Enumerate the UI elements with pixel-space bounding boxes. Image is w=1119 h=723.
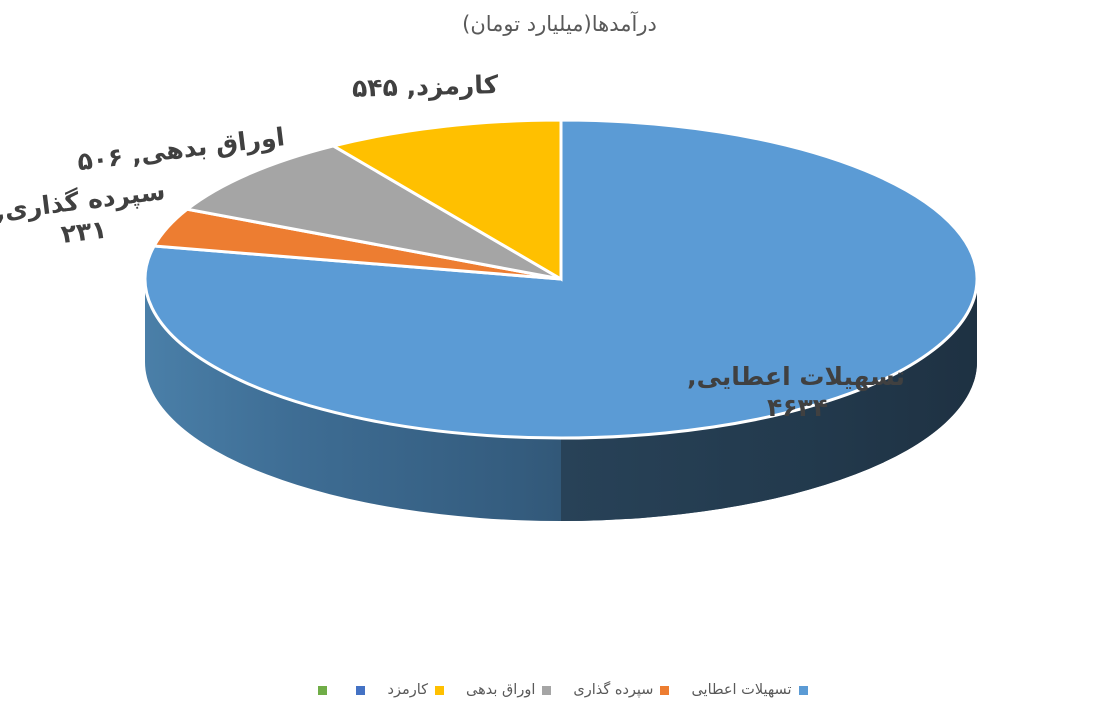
- data-label-karmozd: کارمزد, ۵۴۵: [352, 70, 499, 104]
- pie-chart-figure: درآمدها(میلیارد تومان): [0, 0, 1119, 723]
- legend-item-2[interactable]: اوراق بدهی: [466, 682, 551, 698]
- legend-item-label: کارمزد: [387, 682, 428, 698]
- legend-swatch-icon: [318, 686, 327, 695]
- legend-item-5[interactable]: [311, 686, 327, 695]
- data-label-tashilat-etaei-name: تسهیلات اعطایی,: [687, 362, 905, 391]
- data-label-tashilat-etaei-value: ۴۶۳۴: [690, 393, 905, 424]
- legend-item-0[interactable]: تسهیلات اعطایی: [691, 682, 807, 698]
- legend-item-label: اوراق بدهی: [466, 682, 535, 698]
- legend-swatch-icon: [799, 686, 808, 695]
- legend-item-1[interactable]: سپرده گذاری: [573, 682, 669, 698]
- data-label-tashilat-etaei: تسهیلات اعطایی, ۴۶۳۴: [690, 362, 905, 423]
- legend-swatch-icon: [542, 686, 551, 695]
- legend-item-3[interactable]: کارمزد: [387, 682, 444, 698]
- pie-graphic: [0, 0, 1119, 723]
- legend-swatch-icon: [435, 686, 444, 695]
- legend-item-label: سپرده گذاری: [573, 682, 653, 698]
- legend-swatch-icon: [356, 686, 365, 695]
- legend-item-4[interactable]: [349, 686, 365, 695]
- legend-swatch-icon: [660, 686, 669, 695]
- chart-legend: تسهیلات اعطاییسپرده گذاریاوراق بدهیکارمز…: [0, 676, 1119, 704]
- legend-item-label: تسهیلات اعطایی: [691, 682, 791, 698]
